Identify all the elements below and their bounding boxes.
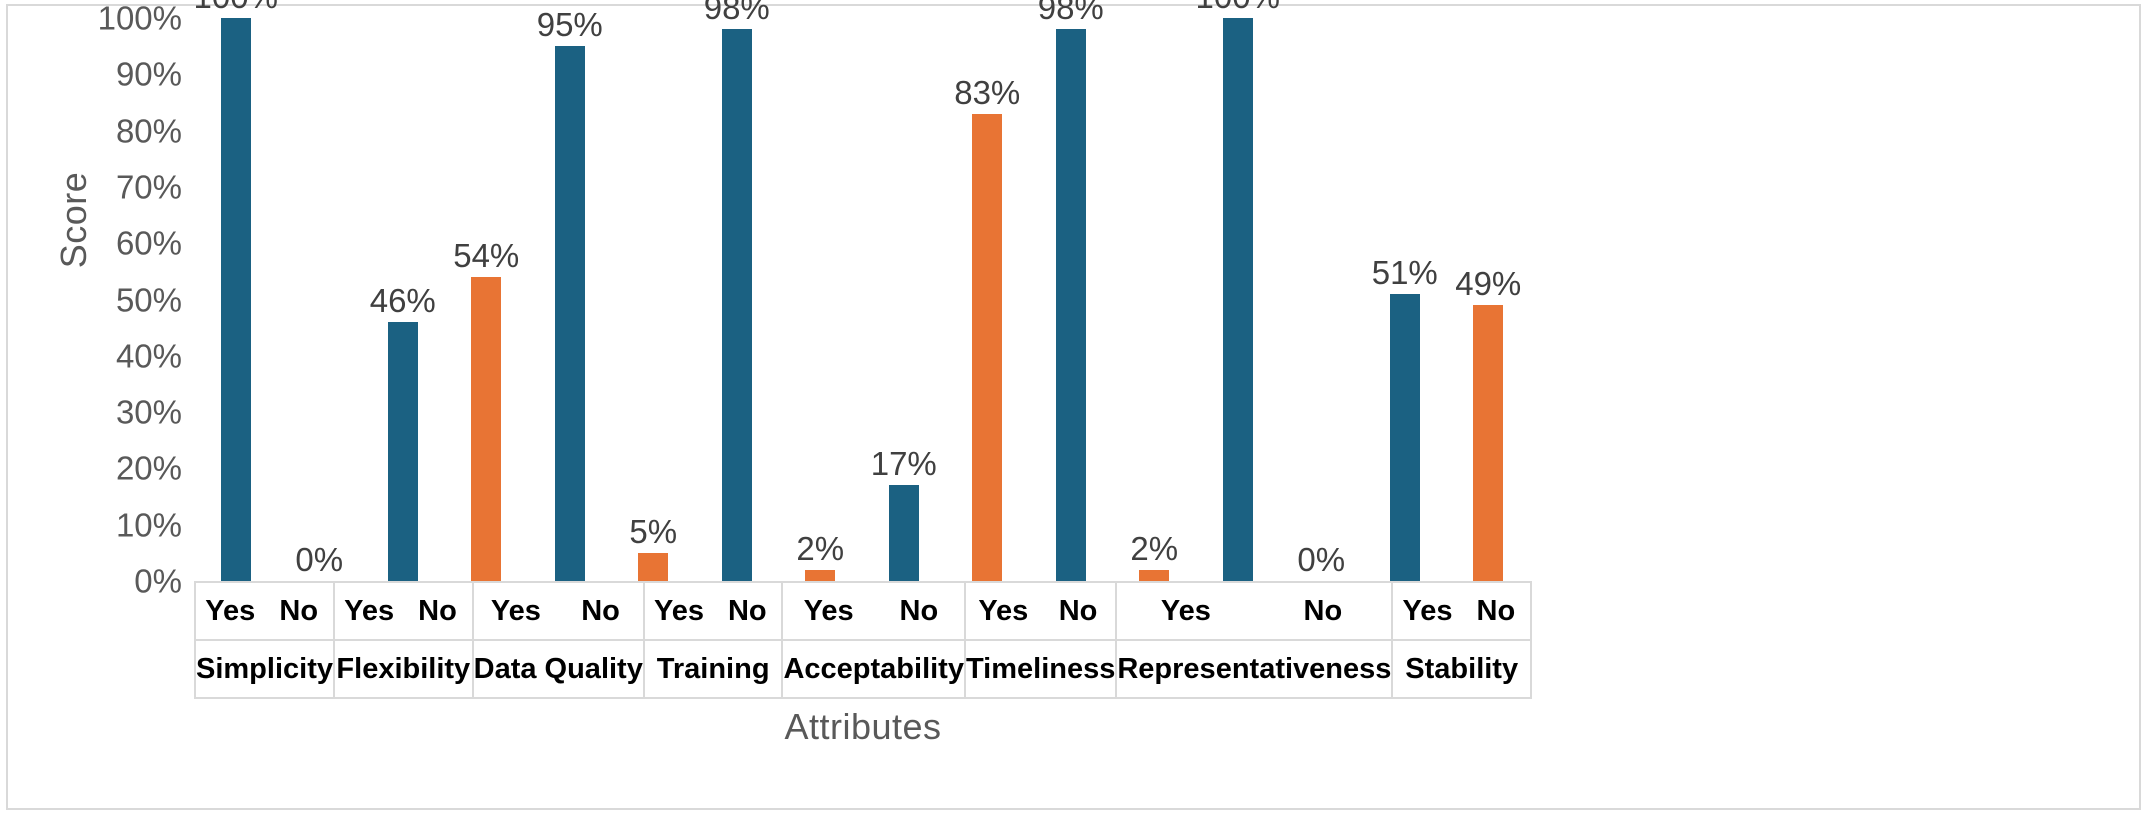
bar-group: 46%54% [361,18,528,581]
category-group-flexibility: YesNoFlexibility [335,583,474,699]
category-sublabel-no: No [1254,583,1391,639]
category-subrow: YesNo [645,583,782,641]
category-label: Simplicity [196,641,333,697]
bar-data-quality-no[interactable]: 5% [638,553,668,581]
bar-value-label: 100% [194,0,278,13]
bar-group: 98%2% [695,18,862,581]
bar-value-label: 51% [1372,256,1438,289]
category-subrow: YesNo [1393,583,1530,641]
bar-slot: 98% [695,18,779,581]
bar-value-label: 0% [1297,543,1345,576]
category-label: Representativeness [1117,641,1391,697]
category-sublabel-no: No [403,583,471,639]
bar-slot: 17% [862,18,946,581]
category-label-text: Flexibility [336,653,470,686]
category-sublabel-yes: Yes [474,583,559,639]
y-axis-tick-label: 20% [92,452,182,485]
bar-slot: 49% [1447,18,1531,581]
bar-slot: 51% [1363,18,1447,581]
bar-slot: 5% [612,18,696,581]
category-label-text: Data Quality [474,653,643,686]
bar-slot: 2% [1113,18,1197,581]
category-label-text: Training [657,653,770,686]
category-label: Data Quality [474,641,643,697]
bar-value-label: 46% [370,284,436,317]
bar-group: 100%0% [194,18,361,581]
category-group-timeliness: YesNoTimeliness [966,583,1117,699]
category-subrow: YesNo [966,583,1115,641]
category-label: Flexibility [335,641,472,697]
bar-flexibility-no[interactable]: 54% [471,277,501,581]
bar-value-label: 49% [1455,267,1521,300]
y-axis-tick-label: 100% [92,2,182,35]
y-axis-tick-label: 40% [92,339,182,372]
bar-slot: 46% [361,18,445,581]
category-sublabel-no: No [1041,583,1116,639]
category-label-text: Stability [1405,653,1518,686]
bar-acceptability-no[interactable]: 83% [972,114,1002,581]
bar-slot: 0% [1280,18,1364,581]
bar-group: 98%2% [1029,18,1196,581]
bar-slot: 100% [1196,18,1280,581]
category-sublabel-yes: Yes [966,583,1041,639]
y-axis-tick-label: 90% [92,58,182,91]
y-axis-tick-labels: 100%90%80%70%60%50%40%30%20%10%0% [92,18,182,581]
bar-value-label: 5% [629,515,677,548]
bar-value-label: 17% [871,447,937,480]
category-sublabel-yes: Yes [645,583,713,639]
category-sublabel-yes: Yes [783,583,873,639]
bar-value-label: 54% [453,239,519,272]
x-axis-title: Attributes [194,706,1532,748]
bar-group: 51%49% [1363,18,1530,581]
bar-stability-no[interactable]: 49% [1473,305,1503,581]
bar-acceptability-yes[interactable]: 17% [889,485,919,581]
bar-slot: 54% [445,18,529,581]
y-axis-tick-label: 50% [92,283,182,316]
bar-data-quality-yes[interactable]: 95% [555,46,585,581]
bar-group: 95%5% [528,18,695,581]
category-subrow: YesNo [335,583,472,641]
y-axis-tick-label: 0% [92,565,182,598]
category-sublabel-yes: Yes [1393,583,1461,639]
category-sublabel-no: No [874,583,964,639]
bar-slot: 0% [278,18,362,581]
category-label: Timeliness [966,641,1115,697]
bar-group: 17%83% [862,18,1029,581]
y-axis-tick-label: 30% [92,396,182,429]
category-label: Training [645,641,782,697]
bar-value-label: 2% [1130,532,1178,565]
bar-slot: 2% [779,18,863,581]
category-label-text: Simplicity [196,653,333,686]
bar-value-label: 98% [1038,0,1104,24]
bar-slot: 98% [1029,18,1113,581]
category-group-data-quality: YesNoData Quality [474,583,645,699]
category-group-training: YesNoTraining [645,583,784,699]
bar-value-label: 98% [704,0,770,24]
bar-training-no[interactable]: 2% [805,570,835,581]
category-subrow: YesNo [783,583,964,641]
bar-slot: 83% [946,18,1030,581]
category-sublabel-no: No [265,583,334,639]
category-sublabel-yes: Yes [335,583,403,639]
bar-slot: 100% [194,18,278,581]
category-sublabel-yes: Yes [1117,583,1254,639]
bar-group: 100%0% [1196,18,1363,581]
bar-value-label: 0% [295,543,343,576]
bar-value-label: 83% [954,76,1020,109]
category-label-text: Timeliness [966,653,1115,686]
bar-flexibility-yes[interactable]: 46% [388,322,418,581]
bar-value-label: 2% [796,532,844,565]
y-axis-tick-label: 80% [92,114,182,147]
y-axis-tick-label: 60% [92,227,182,260]
category-subrow: YesNo [1117,583,1391,641]
category-group-simplicity: YesNoSimplicity [194,583,335,699]
category-label: Stability [1393,641,1530,697]
x-axis-category-labels: YesNoSimplicityYesNoFlexibilityYesNoData… [194,583,1532,699]
y-axis-tick-label: 10% [92,508,182,541]
category-subrow: YesNo [474,583,643,641]
bar-training-yes[interactable]: 98% [722,29,752,581]
category-group-stability: YesNoStability [1393,583,1532,699]
bar-timeliness-yes[interactable]: 98% [1056,29,1086,581]
category-sublabel-no: No [713,583,781,639]
category-sublabel-yes: Yes [196,583,265,639]
category-group-representativeness: YesNoRepresentativeness [1117,583,1393,699]
bar-chart: Score 100%90%80%70%60%50%40%30%20%10%0% … [0,0,2147,817]
bar-stability-yes[interactable]: 51% [1390,294,1420,581]
y-axis-tick-label: 70% [92,170,182,203]
bar-simplicity-yes[interactable]: 100% [221,18,251,581]
bar-value-label: 100% [1196,0,1280,13]
category-sublabel-no: No [1462,583,1530,639]
category-sublabel-no: No [558,583,643,639]
bar-groups: 100%0%46%54%95%5%98%2%17%83%98%2%100%0%5… [194,18,1530,581]
category-label-text: Acceptability [783,653,964,686]
category-subrow: YesNo [196,583,333,641]
category-label: Acceptability [783,641,964,697]
category-label-text: Representativeness [1117,653,1391,686]
bar-slot: 95% [528,18,612,581]
bar-value-label: 95% [537,8,603,41]
category-group-acceptability: YesNoAcceptability [783,583,966,699]
bar-representativeness-yes[interactable]: 100% [1223,18,1253,581]
bar-timeliness-no[interactable]: 2% [1139,570,1169,581]
plot-area: 100%0%46%54%95%5%98%2%17%83%98%2%100%0%5… [194,18,1530,581]
